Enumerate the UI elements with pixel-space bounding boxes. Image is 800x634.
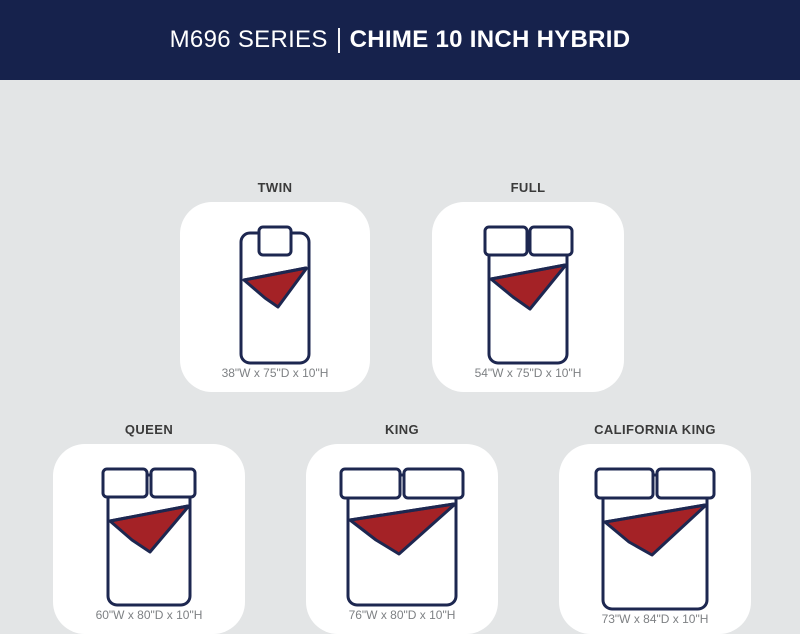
size-chart-grid: TWIN 38"W x 75"D x 10"H FULL: [0, 80, 800, 600]
bed-diagram-icon: [591, 466, 719, 612]
bed-illustration-full: [432, 224, 624, 366]
size-card-twin[interactable]: 38"W x 75"D x 10"H: [180, 202, 370, 392]
page-title: M696 SERIES CHIME 10 INCH HYBRID: [170, 28, 631, 53]
size-dimensions-queen: 60"W x 80"D x 10"H: [53, 608, 245, 622]
size-cell-king: KING 76"W x 80"D x 10"H: [306, 422, 498, 634]
bed-illustration-california-king: [559, 466, 751, 612]
size-card-king[interactable]: 76"W x 80"D x 10"H: [306, 444, 498, 634]
size-card-queen[interactable]: 60"W x 80"D x 10"H: [53, 444, 245, 634]
title-series-text: M696 SERIES: [170, 28, 328, 52]
size-dimensions-california-king: 73"W x 84"D x 10"H: [559, 612, 751, 626]
bed-diagram-icon: [336, 466, 468, 608]
size-dimensions-twin: 38"W x 75"D x 10"H: [180, 366, 370, 380]
title-divider: [338, 28, 340, 53]
bed-diagram-icon: [98, 466, 200, 608]
size-card-full[interactable]: 54"W x 75"D x 10"H: [432, 202, 624, 392]
bed-illustration-twin: [180, 224, 370, 366]
size-label-queen: QUEEN: [125, 422, 173, 437]
size-cell-full: FULL 54"W x 75"D x 10"H: [432, 180, 624, 392]
page-header: M696 SERIES CHIME 10 INCH HYBRID: [0, 0, 800, 80]
size-card-california-king[interactable]: 73"W x 84"D x 10"H: [559, 444, 751, 634]
size-label-full: FULL: [511, 180, 546, 195]
size-label-twin: TWIN: [258, 180, 293, 195]
bed-illustration-king: [306, 466, 498, 608]
size-dimensions-full: 54"W x 75"D x 10"H: [432, 366, 624, 380]
size-cell-california-king: CALIFORNIA KING 73"W x 84"D x 10"H: [559, 422, 751, 634]
size-cell-queen: QUEEN 60"W x 80"D x 10"H: [53, 422, 245, 634]
size-label-king: KING: [385, 422, 419, 437]
bed-illustration-queen: [53, 466, 245, 608]
size-dimensions-king: 76"W x 80"D x 10"H: [306, 608, 498, 622]
bed-diagram-icon: [238, 224, 312, 366]
bed-diagram-icon: [480, 224, 576, 366]
size-cell-twin: TWIN 38"W x 75"D x 10"H: [180, 180, 370, 392]
size-label-california-king: CALIFORNIA KING: [594, 422, 716, 437]
title-model-text: CHIME 10 INCH HYBRID: [350, 28, 631, 52]
